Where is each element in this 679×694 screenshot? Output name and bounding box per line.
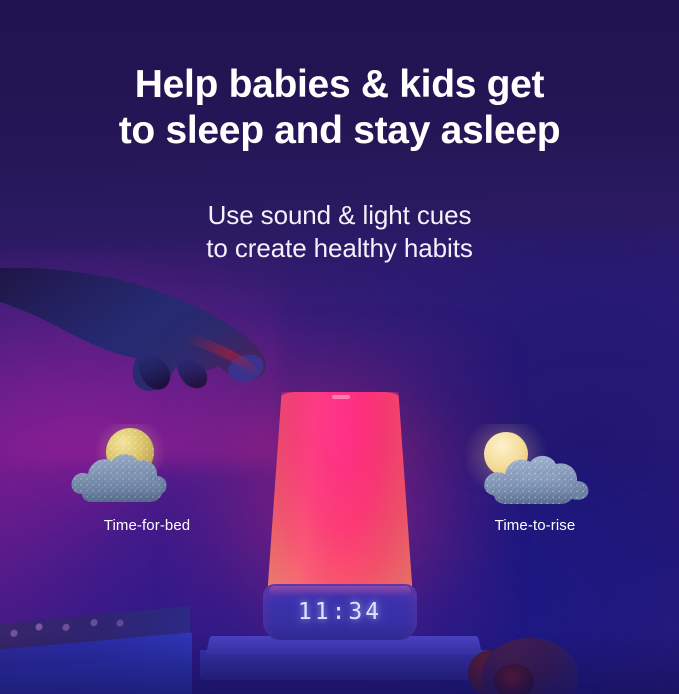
night-light-device[interactable]: 11:34 [263,392,417,644]
page-title: Help babies & kids get to sleep and stay… [0,62,679,154]
page-subtitle-line-2: to create healthy habits [0,232,679,265]
cue-label-time-for-bed: Time-for-bed [62,517,232,534]
page-title-line-1: Help babies & kids get [0,62,679,108]
page-subtitle: Use sound & light cues to create healthy… [0,199,679,265]
lamp-top-button[interactable] [332,395,350,399]
clock-display: 11:34 [263,599,417,625]
moon-behind-cloud-icon [62,424,232,510]
lamp-base-highlight [269,586,411,596]
lamp-dome-shading [267,392,413,598]
cue-time-for-bed: Time-for-bed [62,424,232,534]
cue-time-to-rise: Time-to-rise [450,424,620,534]
sun-behind-cloud-icon [450,424,620,510]
cue-label-time-to-rise: Time-to-rise [450,517,620,534]
promo-graphic: Help babies & kids get to sleep and stay… [0,0,679,694]
page-title-line-2: to sleep and stay asleep [0,108,679,154]
page-subtitle-line-1: Use sound & light cues [0,199,679,232]
floor-shadow [0,634,679,694]
